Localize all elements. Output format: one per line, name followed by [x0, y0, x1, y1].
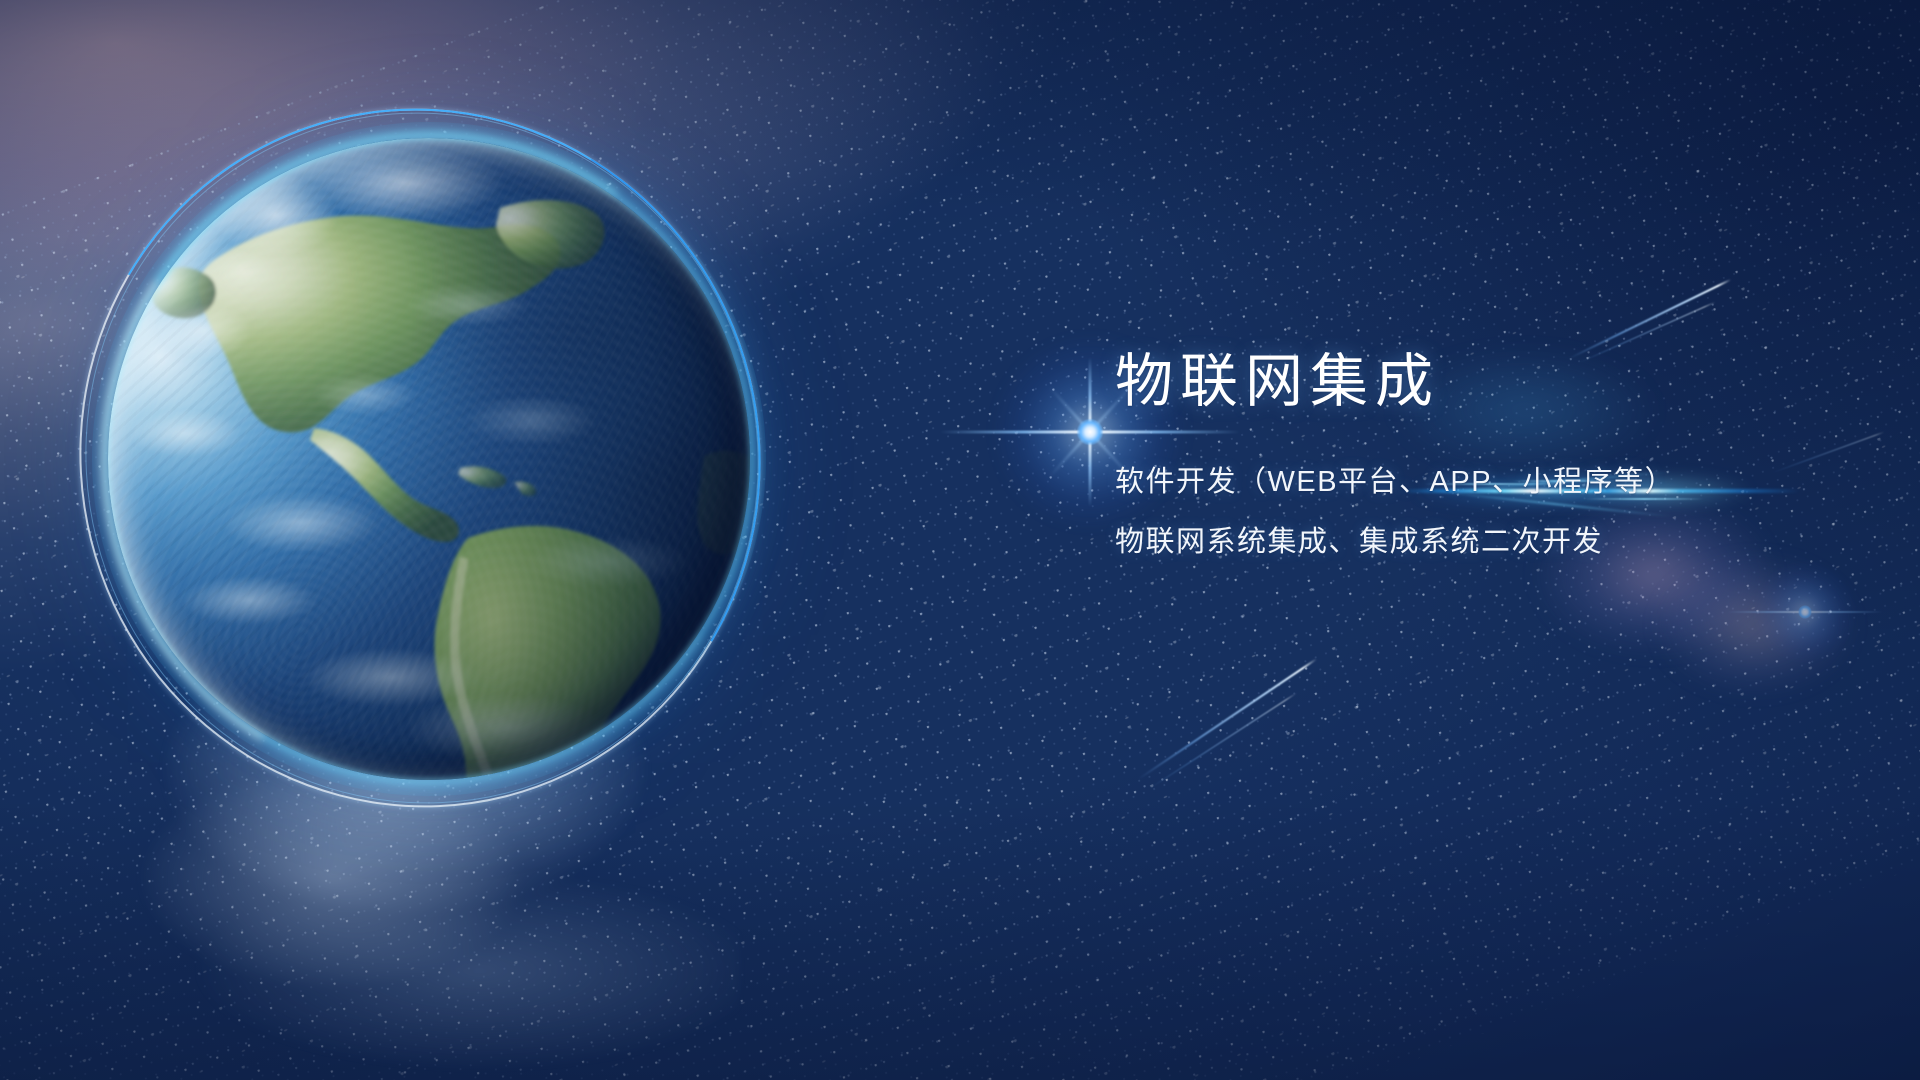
iot-hero-banner: 物联网集成 软件开发（WEB平台、APP、小程序等） 物联网系统集成、集成系统二… — [0, 0, 1920, 1080]
earth-globe — [108, 138, 750, 780]
globe-limb-shading — [108, 138, 750, 780]
page-title: 物联网集成 — [1115, 352, 1835, 413]
globe-sphere — [108, 138, 750, 780]
hero-copy: 物联网集成 软件开发（WEB平台、APP、小程序等） 物联网系统集成、集成系统二… — [1115, 352, 1835, 559]
subtitle-line-2: 物联网系统集成、集成系统二次开发 — [1115, 527, 1835, 559]
subtitle-line-1: 软件开发（WEB平台、APP、小程序等） — [1115, 467, 1835, 499]
